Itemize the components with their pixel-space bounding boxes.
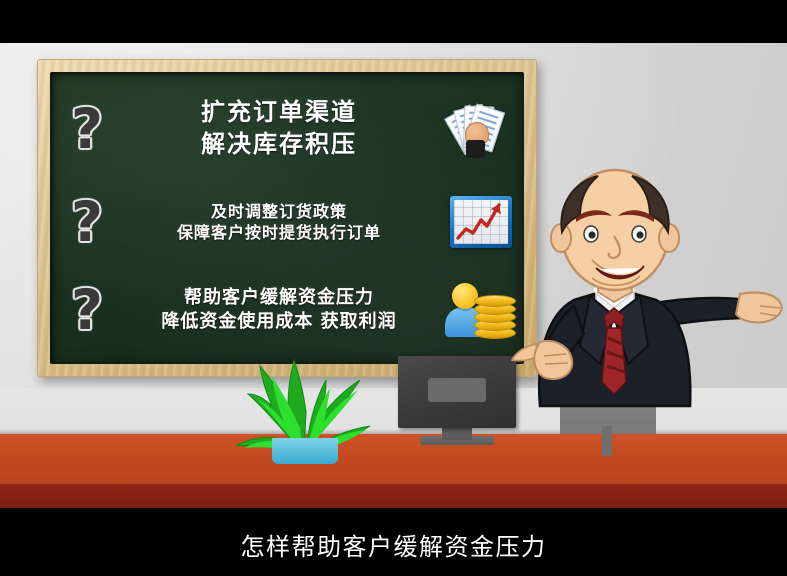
subtitle: 怎样帮助客户缓解资金压力 — [0, 527, 787, 562]
sleeve-cuff — [466, 140, 485, 158]
blackboard-surface: ? 扩充订单渠道 解决库存积压 — [50, 72, 524, 364]
board-row-3-line-2: 降低资金使用成本 获取利润 — [124, 310, 434, 334]
board-row-1-text: 扩充订单渠道 解决库存积压 — [124, 97, 438, 160]
scene: ? 扩充订单渠道 解决库存积压 — [0, 43, 787, 508]
necktie — [602, 328, 626, 394]
board-row-1-icon — [438, 100, 524, 158]
plant-pot — [272, 438, 338, 464]
board-row-3-line-1: 帮助客户缓解资金压力 — [124, 286, 434, 310]
board-row-1: ? 扩充订单渠道 解决库存积压 — [50, 86, 524, 172]
businessman-illustration — [488, 156, 787, 456]
board-row-2: ? 及时调整订货政策 保障客户按时提货执行订单 — [50, 182, 524, 262]
board-row-2-line-2: 保障客户按时提货执行订单 — [124, 222, 434, 243]
left-pupil — [588, 231, 595, 238]
question-mark-icon: ? — [50, 283, 124, 338]
video-frame: ? 扩充订单渠道 解决库存积压 — [0, 0, 787, 576]
monitor-mount-bracket — [428, 378, 486, 402]
right-pupil — [636, 231, 643, 238]
potted-plant — [214, 336, 404, 456]
businessman-presenter — [488, 156, 787, 456]
question-mark-icon: ? — [50, 102, 124, 157]
board-row-3-text: 帮助客户缓解资金压力 降低资金使用成本 获取利润 — [124, 286, 438, 334]
board-row-2-line-1: 及时调整订货政策 — [124, 201, 434, 222]
blackboard: ? 扩充订单渠道 解决库存积压 — [37, 59, 537, 377]
board-row-1-line-1: 扩充订单渠道 — [124, 97, 434, 129]
question-mark-icon: ? — [50, 195, 124, 250]
board-row-2-text: 及时调整订货政策 保障客户按时提货执行订单 — [124, 201, 438, 243]
desk-front-panel — [0, 484, 787, 508]
documents-in-hand-icon — [445, 100, 517, 158]
board-row-1-line-2: 解决库存积压 — [124, 129, 434, 161]
